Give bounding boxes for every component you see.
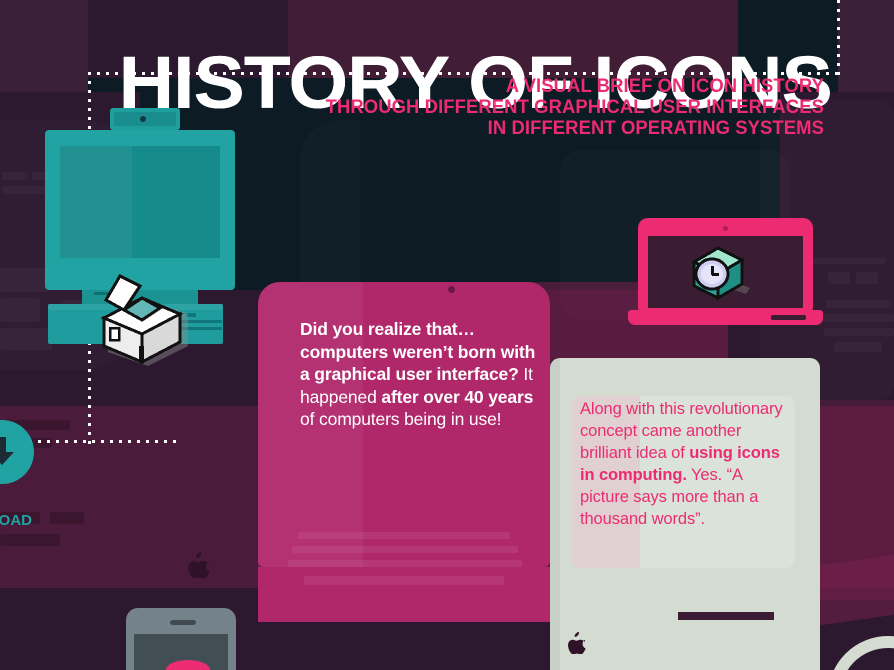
phone-earpiece (170, 620, 196, 625)
bg-panel-corner (820, 555, 894, 625)
laptop-trackpad (771, 315, 806, 320)
frame-dotted-lower (20, 440, 178, 443)
floppy-drive-slot (678, 612, 774, 620)
subtitle-line-1: A VISUAL BRIEF ON ICON HISTORY (242, 76, 824, 97)
imac-key-row (298, 532, 510, 539)
bg-texture (834, 342, 882, 352)
retro-screen-glare (60, 146, 132, 258)
download-badge-line1: DOWNLOAD (0, 512, 32, 530)
pixel-alarm-clock-icon (684, 240, 756, 306)
mac-side-shade (550, 358, 560, 670)
imac-key-row (304, 576, 504, 585)
pink-laptop (628, 218, 823, 333)
intro-tail: of computers being in use! (300, 409, 501, 429)
gray-smartphone (126, 608, 236, 670)
pixel-box-icon (90, 268, 200, 368)
retro-camera-lens (140, 116, 146, 122)
download-badge-line2: MORE! (0, 530, 32, 548)
icons-note-blurb: Along with this revolutionary concept ca… (580, 398, 792, 530)
download-arrow-icon (0, 434, 20, 470)
bg-texture (820, 314, 894, 322)
intro-bold-mid: after over 40 years (381, 387, 533, 407)
teal-retro-computer (0, 108, 290, 408)
imac-key-row (288, 560, 522, 567)
apple-logo-icon (568, 632, 586, 654)
infographic-canvas: HISTORY OF ICONS A VISUAL BRIEF ON ICON … (0, 0, 894, 670)
subtitle-line-3: IN DIFFERENT OPERATING SYSTEMS (242, 118, 824, 139)
bg-texture (828, 272, 850, 284)
subtitle-line-2: THROUGH DIFFERENT GRAPHICAL USER INTERFA… (242, 97, 824, 118)
bg-texture (50, 512, 84, 524)
intro-bold-lead: Did you realize that… computers weren’t … (300, 319, 535, 384)
imac-camera-icon (448, 286, 455, 293)
imac-key-row (292, 546, 518, 553)
laptop-camera-icon (723, 226, 728, 231)
intro-blurb: Did you realize that… computers weren’t … (300, 318, 545, 431)
apple-logo-icon (188, 552, 210, 578)
page-subtitle: A VISUAL BRIEF ON ICON HISTORY THROUGH D… (242, 76, 824, 139)
bg-plum-topleft (0, 0, 88, 92)
bg-texture (856, 272, 878, 284)
download-badge-text[interactable]: DOWNLOAD MORE! (0, 512, 32, 548)
bg-texture (824, 328, 894, 336)
bg-texture (826, 300, 892, 308)
